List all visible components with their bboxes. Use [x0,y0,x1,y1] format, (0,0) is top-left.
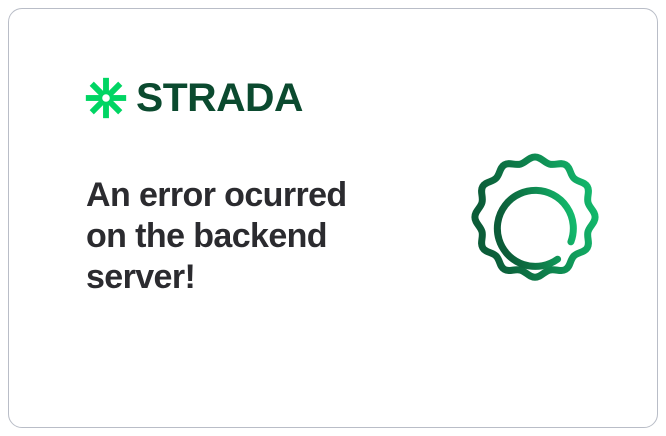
screenshot-stage: STRADA An error ocurred on the backend s… [0,0,666,436]
gear-inner-arc [497,190,573,266]
error-headline: An error ocurred on the backend server! [86,175,386,298]
brand-wordmark: STRADA [136,78,303,118]
brand-lockup: STRADA [85,77,300,119]
strada-asterisk-mark-icon [85,77,127,119]
error-card: STRADA An error ocurred on the backend s… [8,8,658,428]
gear-outer-ring [475,157,595,277]
gear-cog-illustration [455,149,615,309]
